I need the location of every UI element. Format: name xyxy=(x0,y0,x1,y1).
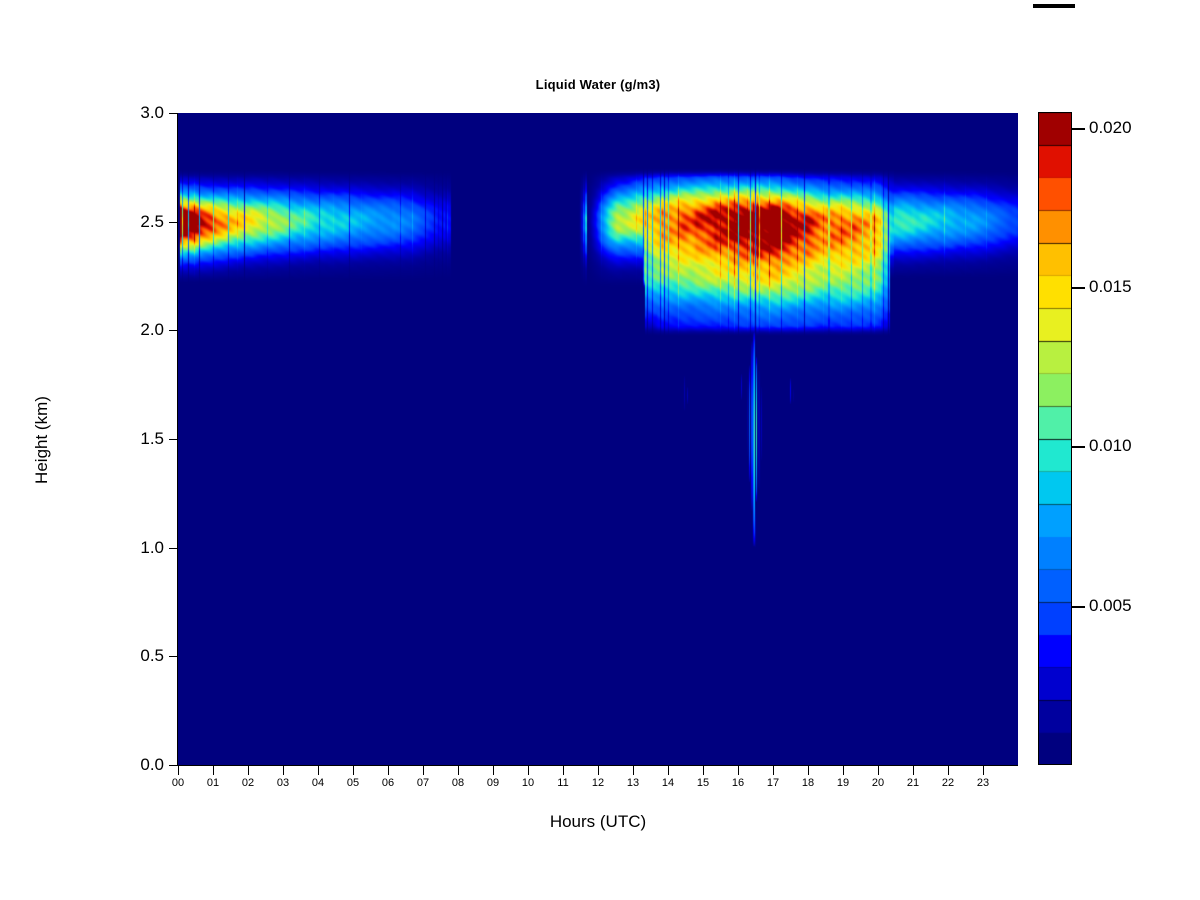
colorbar-tick xyxy=(1072,128,1085,130)
colorbar-canvas xyxy=(1038,112,1072,765)
x-tick-label: 07 xyxy=(406,778,440,789)
colorbar-tick-label: 0.015 xyxy=(1089,278,1132,295)
x-tick xyxy=(703,766,704,775)
y-tick xyxy=(169,330,178,331)
x-tick xyxy=(388,766,389,775)
x-tick-label: 04 xyxy=(301,778,335,789)
y-tick xyxy=(169,548,178,549)
x-tick-label: 00 xyxy=(161,778,195,789)
x-tick-label: 23 xyxy=(966,778,1000,789)
colorbar-tick xyxy=(1072,446,1085,448)
x-tick-label: 15 xyxy=(686,778,720,789)
chart-root: Liquid Water (g/m3) 0.00.51.01.52.02.53.… xyxy=(0,0,1200,900)
heatmap-canvas xyxy=(178,113,1018,765)
y-tick xyxy=(169,113,178,114)
x-tick xyxy=(563,766,564,775)
y-axis-title: Height (km) xyxy=(32,360,52,520)
x-tick-label: 11 xyxy=(546,778,580,789)
x-tick xyxy=(913,766,914,775)
y-tick-label: 0.5 xyxy=(104,647,164,664)
x-tick xyxy=(948,766,949,775)
x-tick-label: 16 xyxy=(721,778,755,789)
y-tick xyxy=(169,765,178,766)
colorbar-tick-label: 0.005 xyxy=(1089,597,1132,614)
x-tick-label: 21 xyxy=(896,778,930,789)
x-tick xyxy=(843,766,844,775)
x-tick-label: 06 xyxy=(371,778,405,789)
x-tick xyxy=(283,766,284,775)
x-tick xyxy=(213,766,214,775)
x-tick-label: 02 xyxy=(231,778,265,789)
x-tick xyxy=(773,766,774,775)
x-tick xyxy=(458,766,459,775)
x-tick xyxy=(493,766,494,775)
y-tick-label: 1.5 xyxy=(104,430,164,447)
x-tick-label: 13 xyxy=(616,778,650,789)
x-tick-label: 18 xyxy=(791,778,825,789)
x-tick-label: 09 xyxy=(476,778,510,789)
x-tick-label: 05 xyxy=(336,778,370,789)
colorbar-tick-label: 0.010 xyxy=(1089,437,1132,454)
x-tick xyxy=(423,766,424,775)
colorbar-tick-label: 0.020 xyxy=(1089,119,1132,136)
x-tick-label: 17 xyxy=(756,778,790,789)
x-tick xyxy=(878,766,879,775)
x-tick-label: 12 xyxy=(581,778,615,789)
x-tick xyxy=(318,766,319,775)
top-black-bar-artifact xyxy=(1033,4,1075,8)
x-tick xyxy=(808,766,809,775)
y-tick-label: 3.0 xyxy=(104,104,164,121)
y-tick-label: 0.0 xyxy=(104,756,164,773)
x-tick-label: 01 xyxy=(196,778,230,789)
x-tick-label: 03 xyxy=(266,778,300,789)
x-tick-label: 08 xyxy=(441,778,475,789)
y-tick xyxy=(169,222,178,223)
x-tick xyxy=(668,766,669,775)
x-axis-title: Hours (UTC) xyxy=(178,812,1018,832)
x-tick xyxy=(738,766,739,775)
x-tick xyxy=(248,766,249,775)
chart-title: Liquid Water (g/m3) xyxy=(178,77,1018,92)
x-tick xyxy=(983,766,984,775)
y-tick xyxy=(169,439,178,440)
y-tick-label: 2.0 xyxy=(104,321,164,338)
y-tick xyxy=(169,656,178,657)
x-tick-label: 19 xyxy=(826,778,860,789)
colorbar-tick xyxy=(1072,606,1085,608)
y-tick-label: 2.5 xyxy=(104,213,164,230)
x-tick xyxy=(633,766,634,775)
y-tick-label: 1.0 xyxy=(104,539,164,556)
x-tick xyxy=(598,766,599,775)
x-tick-label: 22 xyxy=(931,778,965,789)
x-tick-label: 14 xyxy=(651,778,685,789)
x-tick xyxy=(353,766,354,775)
colorbar-tick xyxy=(1072,287,1085,289)
x-tick xyxy=(178,766,179,775)
x-tick-label: 10 xyxy=(511,778,545,789)
x-tick xyxy=(528,766,529,775)
x-tick-label: 20 xyxy=(861,778,895,789)
